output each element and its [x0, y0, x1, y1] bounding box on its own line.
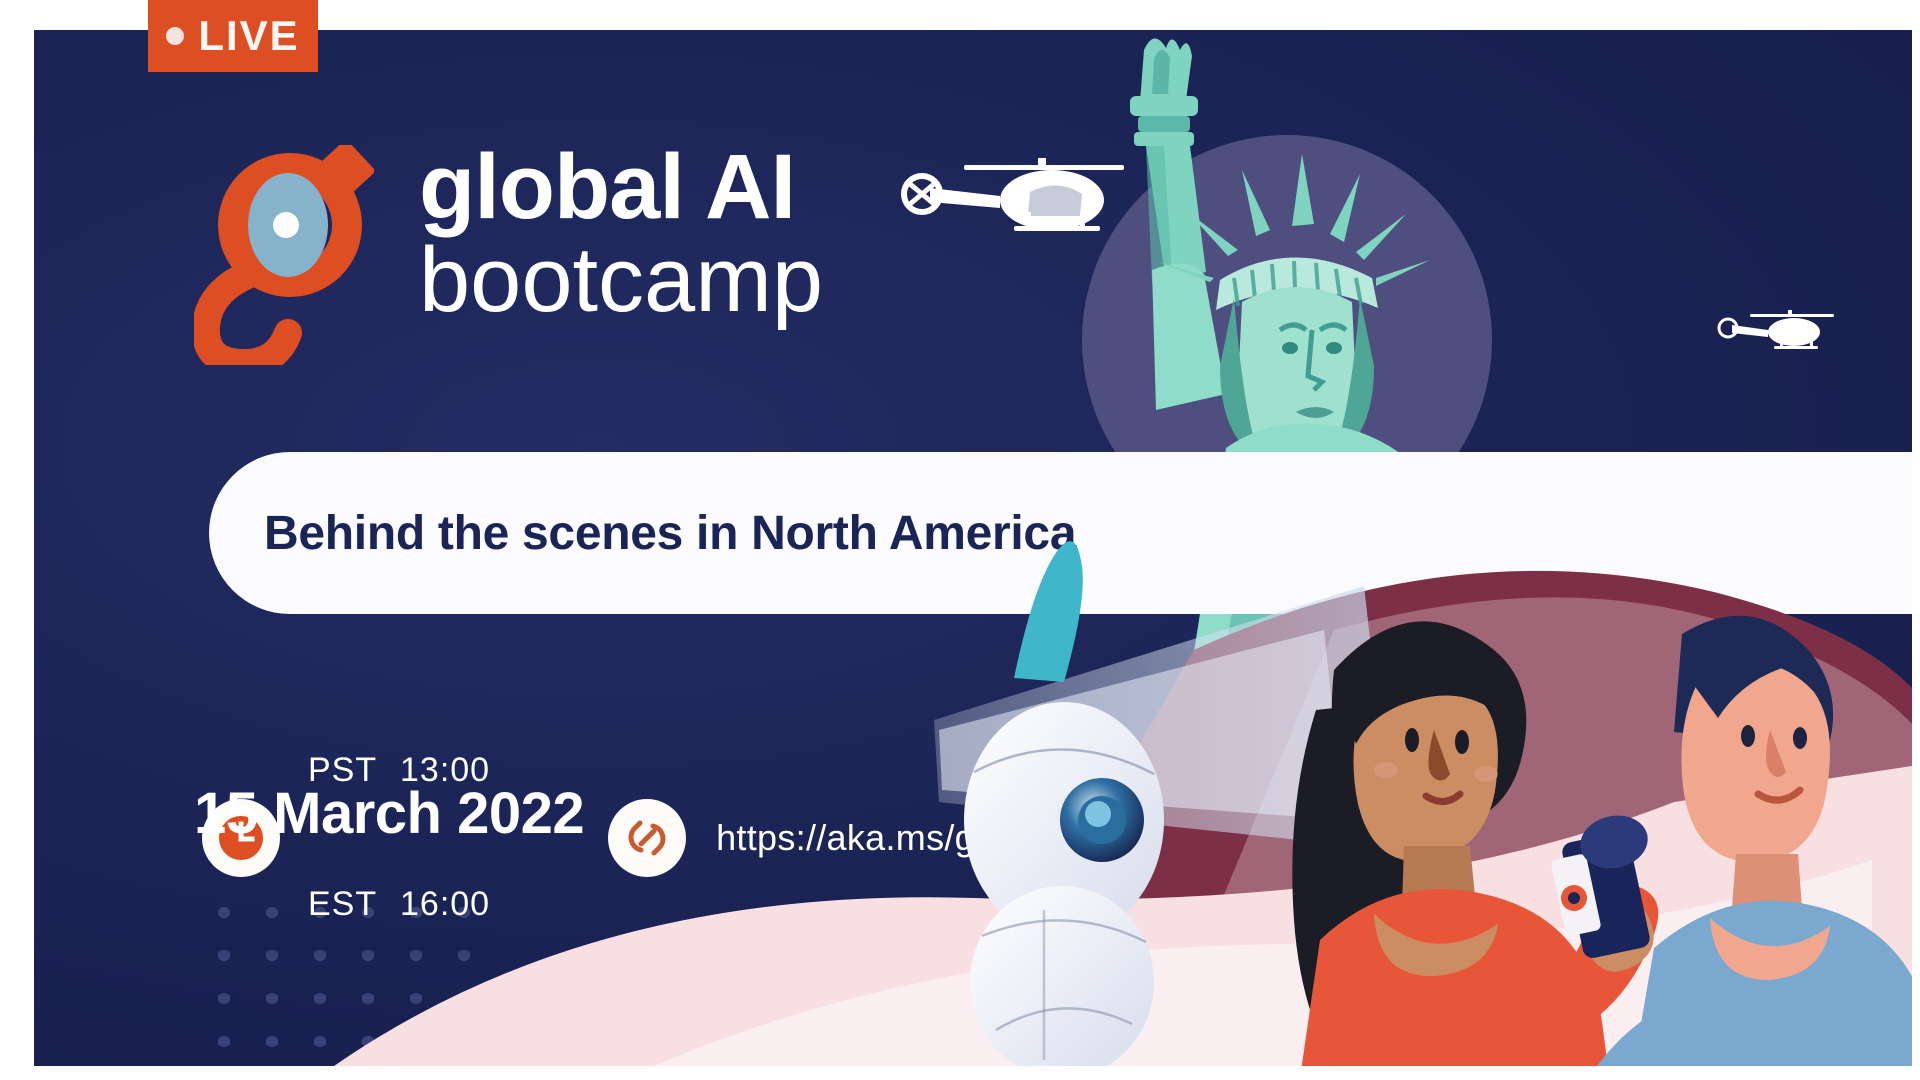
microphone-icon — [1550, 809, 1652, 959]
left-margin — [0, 0, 34, 1080]
interviewee-man-icon — [1532, 616, 1912, 1066]
right-margin — [1912, 0, 1920, 1080]
timezone-time-est: 16:00 — [400, 882, 490, 927]
bottom-margin — [0, 1066, 1920, 1080]
session-title-bar: Behind the scenes in North America — [209, 452, 1912, 614]
helicopter-small-icon — [1719, 310, 1834, 349]
session-title: Behind the scenes in North America — [264, 506, 1076, 561]
reporter-woman-icon — [1284, 621, 1658, 1066]
live-dot-icon — [166, 27, 184, 45]
event-link-group[interactable]: https://aka.ms/gaib — [608, 799, 1024, 877]
timezone-label-est: EST — [308, 882, 400, 927]
wordmark-line-2: bootcamp — [419, 234, 823, 326]
event-banner: global AI bootcamp Behind the scenes in … — [0, 0, 1920, 1080]
event-date: 15 March 2022 — [194, 780, 584, 847]
brand-wordmark: global AI bootcamp — [419, 142, 823, 326]
event-url[interactable]: https://aka.ms/gaib — [716, 817, 1024, 859]
link-chain-icon — [622, 813, 672, 863]
helicopter-icon — [904, 158, 1124, 231]
global-ai-bootcamp-logo-icon — [194, 145, 374, 365]
link-icon-badge — [608, 799, 686, 877]
brand-logo — [194, 145, 374, 365]
wordmark-line-1: global AI — [419, 142, 823, 232]
banner-background: global AI bootcamp Behind the scenes in … — [34, 30, 1912, 1066]
timezone-row-est: EST 16:00 — [308, 882, 490, 927]
live-badge: LIVE — [148, 0, 318, 72]
live-label: LIVE — [198, 15, 299, 57]
